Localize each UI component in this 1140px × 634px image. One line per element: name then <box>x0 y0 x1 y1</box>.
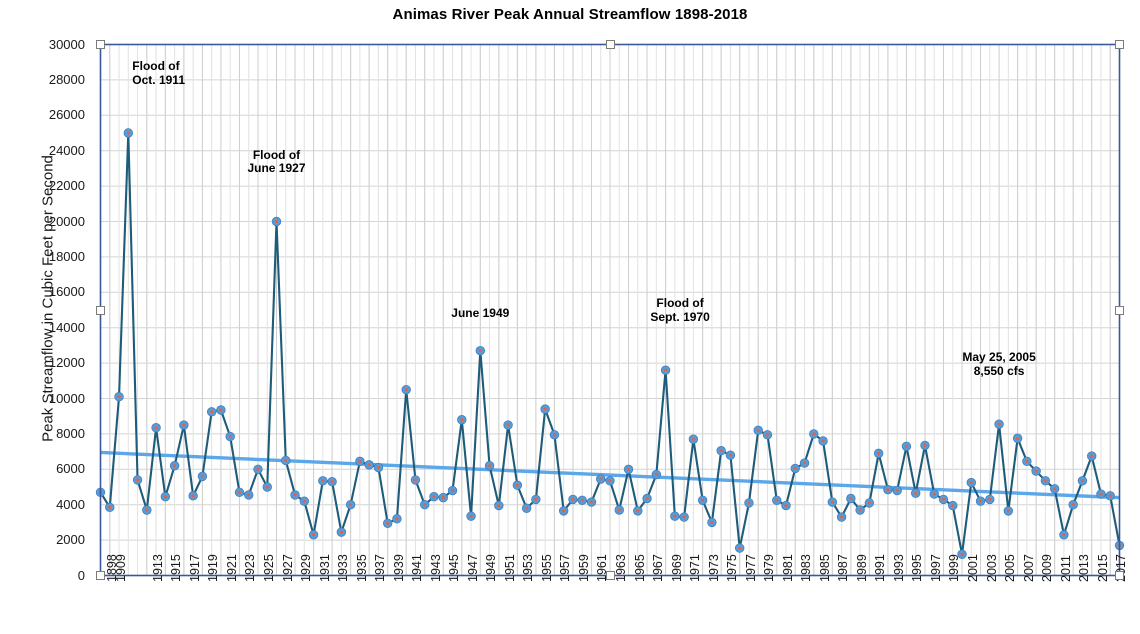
x-axis-tick-label: 1935 <box>356 554 369 582</box>
x-axis-tick-label: 1985 <box>819 554 832 582</box>
x-axis-tick-label: 2007 <box>1023 554 1036 582</box>
x-axis-tick-label: 1973 <box>708 554 721 582</box>
annotation-line: June 1949 <box>400 307 560 321</box>
y-axis-tick-label: 28000 <box>23 73 85 86</box>
handle-top-right[interactable] <box>1115 40 1124 49</box>
x-axis-tick-label: 1925 <box>263 554 276 582</box>
x-axis-tick-label: 2005 <box>1004 554 1017 582</box>
handle-middle-left[interactable] <box>96 306 105 315</box>
y-axis-tick-label: 26000 <box>23 108 85 121</box>
annotation-line: May 25, 2005 <box>919 351 1079 365</box>
chart-title: Animas River Peak Annual Streamflow 1898… <box>0 6 1140 23</box>
chart-annotation-june-1949: June 1949 <box>400 307 560 321</box>
chart-annotation-flood-june-1927: Flood ofJune 1927 <box>197 149 357 176</box>
x-axis-tick-label: 2015 <box>1097 554 1110 582</box>
x-axis-tick-label: 1991 <box>874 554 887 582</box>
y-axis-tick-label: 16000 <box>23 285 85 298</box>
x-axis-tick-label: 2009 <box>1041 554 1054 582</box>
x-axis-tick-label: 1957 <box>559 554 572 582</box>
plot-area <box>0 0 1140 634</box>
x-axis-tick-label: 1965 <box>634 554 647 582</box>
chart-annotation-flood-sept-1970: Flood ofSept. 1970 <box>600 297 760 324</box>
x-axis-tick-label: 1977 <box>745 554 758 582</box>
x-axis-tick-label: 2003 <box>986 554 999 582</box>
x-axis-tick-label: 1971 <box>689 554 702 582</box>
x-axis-tick-label: 1995 <box>911 554 924 582</box>
x-axis-tick-label: 1921 <box>226 554 239 582</box>
x-axis-tick-label: 1915 <box>170 554 183 582</box>
y-axis-tick-label: 12000 <box>23 356 85 369</box>
handle-bottom-center[interactable] <box>606 571 615 580</box>
x-axis-tick-label: 1967 <box>652 554 665 582</box>
chart-annotation-flood-oct-1911: Flood ofOct. 1911 <box>132 60 185 87</box>
x-axis-tick-label: 1987 <box>837 554 850 582</box>
handle-bottom-left[interactable] <box>96 571 105 580</box>
y-axis-tick-label: 24000 <box>23 144 85 157</box>
x-axis-tick-label: 1927 <box>282 554 295 582</box>
annotation-line: Flood of <box>132 60 185 74</box>
x-axis-tick-label: 1953 <box>522 554 535 582</box>
x-axis-tick-label: 1969 <box>671 554 684 582</box>
x-axis-tick-label: 1959 <box>578 554 591 582</box>
x-axis-tick-label: 2013 <box>1078 554 1091 582</box>
y-axis-tick-label: 6000 <box>23 462 85 475</box>
y-axis-tick-label: 20000 <box>23 215 85 228</box>
annotation-line: Flood of <box>197 149 357 163</box>
x-axis-tick-label: 2001 <box>967 554 980 582</box>
annotation-line: Flood of <box>600 297 760 311</box>
annotation-line: June 1927 <box>197 162 357 176</box>
x-axis-tick-label: 1947 <box>467 554 480 582</box>
x-axis-tick-label: 1931 <box>319 554 332 582</box>
x-axis-tick-label: 1955 <box>541 554 554 582</box>
x-axis-tick-label: 1913 <box>152 554 165 582</box>
x-axis-tick-label: 1919 <box>207 554 220 582</box>
x-axis-tick-label: 1981 <box>782 554 795 582</box>
y-axis-tick-label: 18000 <box>23 250 85 263</box>
y-axis-tick-label: 14000 <box>23 321 85 334</box>
handle-bottom-right[interactable] <box>1115 571 1124 580</box>
x-axis-tick-label: 1979 <box>763 554 776 582</box>
annotation-line: Sept. 1970 <box>600 311 760 325</box>
y-axis-tick-label: 8000 <box>23 427 85 440</box>
x-axis-tick-label: 1989 <box>856 554 869 582</box>
chart-annotation-may-25-2005: May 25, 20058,550 cfs <box>919 351 1079 378</box>
handle-top-left[interactable] <box>96 40 105 49</box>
handle-top-center[interactable] <box>606 40 615 49</box>
x-axis-tick-label: 1997 <box>930 554 943 582</box>
x-axis-tick-label: 1917 <box>189 554 202 582</box>
y-axis-tick-label: 4000 <box>23 498 85 511</box>
x-axis-tick-label: 1975 <box>726 554 739 582</box>
x-axis-tick-label: 1923 <box>244 554 257 582</box>
y-axis-tick-label: 10000 <box>23 392 85 405</box>
handle-middle-right[interactable] <box>1115 306 1124 315</box>
x-axis-tick-label: 1999 <box>948 554 961 582</box>
x-axis-tick-label: 1993 <box>893 554 906 582</box>
x-axis-tick-label: 1945 <box>448 554 461 582</box>
x-axis-tick-label: 1937 <box>374 554 387 582</box>
x-axis-tick-label: 1909 <box>115 554 128 582</box>
annotation-line: 8,550 cfs <box>919 365 1079 379</box>
x-axis-tick-label: 1963 <box>615 554 628 582</box>
x-axis-tick-label: 1941 <box>411 554 424 582</box>
x-axis-tick-label: 1949 <box>485 554 498 582</box>
x-axis-tick-label: 1951 <box>504 554 517 582</box>
y-axis-tick-label: 22000 <box>23 179 85 192</box>
y-axis-tick-label: 2000 <box>23 533 85 546</box>
y-axis-tick-label: 30000 <box>23 38 85 51</box>
x-axis-tick-label: 1933 <box>337 554 350 582</box>
x-axis-tick-label: 1939 <box>393 554 406 582</box>
y-axis-tick-label: 0 <box>23 569 85 582</box>
chart-container: Animas River Peak Annual Streamflow 1898… <box>0 0 1140 634</box>
annotation-line: Oct. 1911 <box>132 74 185 88</box>
x-axis-tick-label: 1983 <box>800 554 813 582</box>
x-axis-tick-label: 2011 <box>1060 555 1073 582</box>
x-axis-tick-label: 1943 <box>430 554 443 582</box>
x-axis-tick-label: 1929 <box>300 554 313 582</box>
